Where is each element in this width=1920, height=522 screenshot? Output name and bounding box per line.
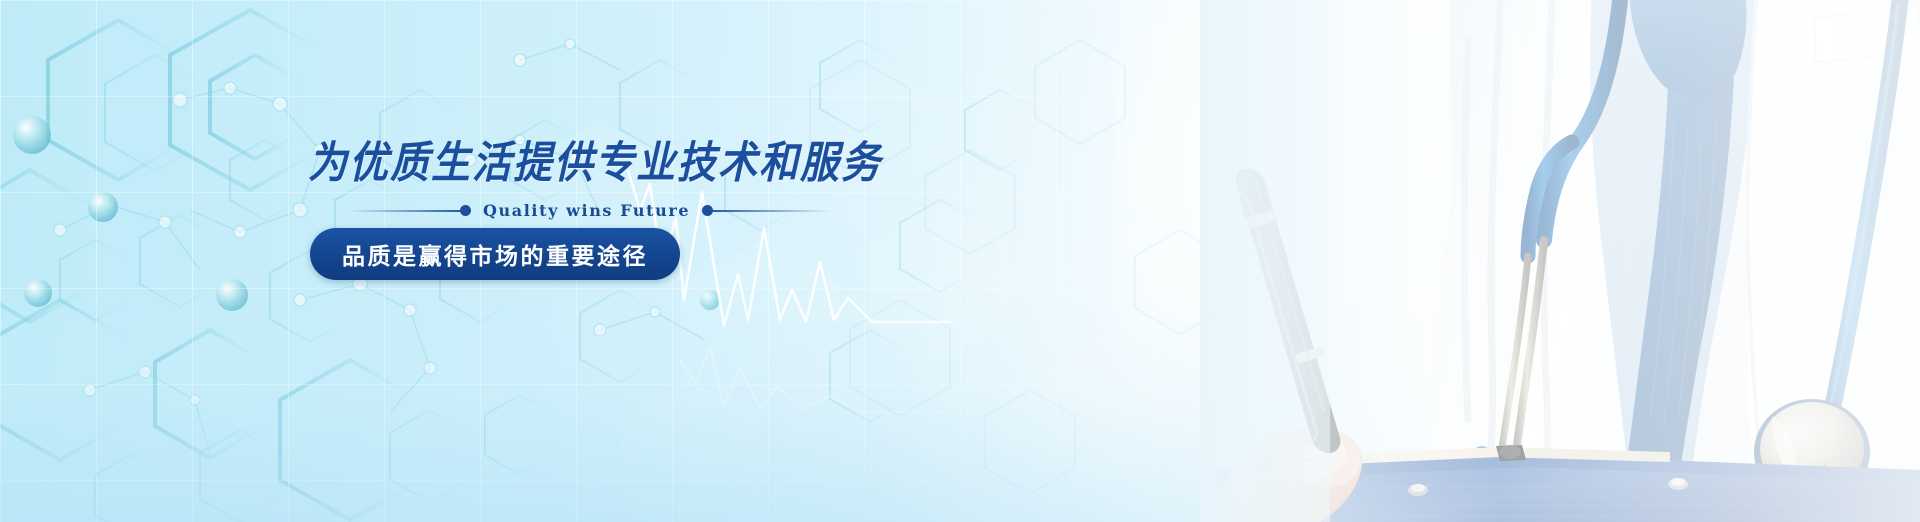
doctor-photo — [1200, 0, 1920, 522]
subtitle-dot-right — [702, 205, 713, 216]
banner-slogan-label: 品质是赢得市场的重要途径 — [342, 237, 648, 271]
promo-banner: 为优质生活提供专业技术和服务 Quality wins Future 品质是赢得… — [0, 0, 1920, 522]
banner-subtitle-row: Quality wins Future — [348, 201, 868, 220]
subtitle-line-left — [348, 210, 460, 212]
banner-slogan-pill[interactable]: 品质是赢得市场的重要途径 — [310, 228, 680, 280]
subtitle-dot-left — [460, 205, 471, 216]
banner-headline: 为优质生活提供专业技术和服务 — [308, 128, 882, 191]
banner-subtitle-en: Quality wins Future — [471, 201, 702, 220]
subtitle-line-right — [713, 210, 831, 212]
banner-content: 为优质生活提供专业技术和服务 Quality wins Future 品质是赢得… — [300, 0, 860, 522]
